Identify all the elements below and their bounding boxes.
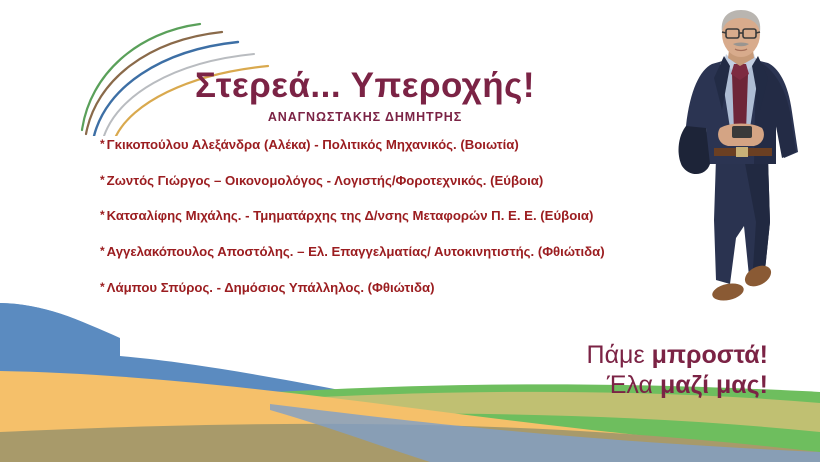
candidate-list: *Γκικοπούλου Αλεξάνδρα (Αλέκα) - Πολιτικ… xyxy=(100,138,660,317)
slogan-line-2-bold: μαζί μας! xyxy=(660,371,768,399)
bullet-star-icon: * xyxy=(100,208,105,222)
list-item-label: Γκικοπούλου Αλεξάνδρα (Αλέκα) - Πολιτικό… xyxy=(107,137,519,152)
slogan-line-1-light: Πάμε xyxy=(587,341,652,369)
photo-draped-coat xyxy=(679,126,710,174)
list-item: *Κατσαλίφης Μιχάλης. - Τμηματάρχης της Δ… xyxy=(100,209,660,222)
list-item: *Γκικοπούλου Αλεξάνδρα (Αλέκα) - Πολιτικ… xyxy=(100,138,660,151)
slogan-line-2-light: Έλα xyxy=(607,371,660,399)
campaign-poster: Στερεά... Υπεροχής! ΑΝΑΓΝΩΣΤΑΚΗΣ ΔΗΜΗΤΡΗ… xyxy=(0,0,820,462)
bullet-star-icon: * xyxy=(100,244,105,258)
photo-belt-buckle xyxy=(736,147,748,157)
candidate-photo xyxy=(672,8,812,330)
poster-subheadline-candidate-name: ΑΝΑΓΝΩΣΤΑΚΗΣ ΔΗΜΗΤΡΗΣ xyxy=(150,110,580,124)
headline-block: Στερεά... Υπεροχής! ΑΝΑΓΝΩΣΤΑΚΗΣ ΔΗΜΗΤΡΗ… xyxy=(150,68,580,124)
slogan-line-2: Έλα μαζί μας! xyxy=(587,371,768,401)
list-item: *Λάμπου Σπύρος. - Δημόσιος Υπάλληλος. (Φ… xyxy=(100,281,660,294)
wave-olive xyxy=(0,424,820,462)
wave-blue-sliver xyxy=(270,404,820,462)
list-item: *Ζωντός Γιώργος – Οικονομολόγος - Λογιστ… xyxy=(100,174,660,187)
list-item-label: Κατσαλίφης Μιχάλης. - Τμηματάρχης της Δ/… xyxy=(107,208,594,223)
list-item-label: Αγγελακόπουλος Αποστόλης. – Ελ. Επαγγελμ… xyxy=(107,244,605,259)
wave-blue-upper xyxy=(0,303,118,462)
slogan-line-1-bold: μπροστά! xyxy=(652,341,768,369)
poster-headline: Στερεά... Υπεροχής! xyxy=(150,68,580,105)
bullet-star-icon: * xyxy=(100,280,105,294)
list-item: *Αγγελακόπουλος Αποστόλης. – Ελ. Επαγγελ… xyxy=(100,245,660,258)
photo-shoe-right xyxy=(711,281,746,303)
list-item-label: Ζωντός Γιώργος – Οικονομολόγος - Λογιστή… xyxy=(107,173,544,188)
bullet-star-icon: * xyxy=(100,137,105,151)
slogan-line-1: Πάμε μπροστά! xyxy=(587,341,768,371)
bullet-star-icon: * xyxy=(100,173,105,187)
list-item-label: Λάμπου Σπύρος. - Δημόσιος Υπάλληλος. (Φθ… xyxy=(107,280,435,295)
campaign-slogan: Πάμε μπροστά! Έλα μαζί μας! xyxy=(587,341,768,400)
photo-phone xyxy=(732,126,752,138)
